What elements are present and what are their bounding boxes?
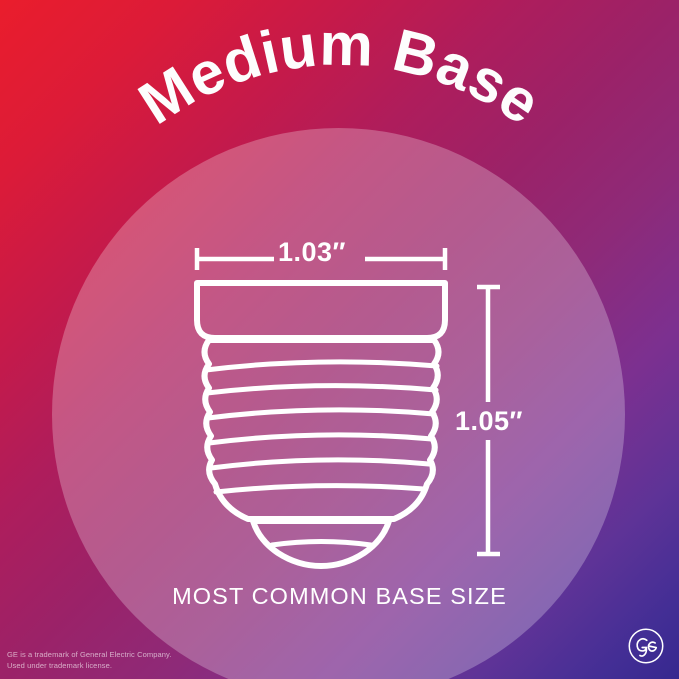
legal-disclaimer: GE is a trademark of General Electric Co… <box>7 649 172 671</box>
legal-line-1: GE is a trademark of General Electric Co… <box>7 649 172 660</box>
bulb-base-diagram <box>0 0 679 679</box>
ge-monogram-logo <box>627 627 665 665</box>
base-contact-tip-line <box>272 542 371 546</box>
legal-line-2: Used under trademark license. <box>7 660 172 671</box>
infographic-canvas: Medium Base <box>0 0 679 679</box>
caption-text: MOST COMMON BASE SIZE <box>0 583 679 610</box>
bulb-base-outline <box>197 283 445 566</box>
base-collar-shape <box>197 283 445 338</box>
base-thread-lines <box>206 362 437 492</box>
height-dimension-label: 1.05″ <box>455 406 523 437</box>
width-dimension-label: 1.03″ <box>278 237 346 268</box>
